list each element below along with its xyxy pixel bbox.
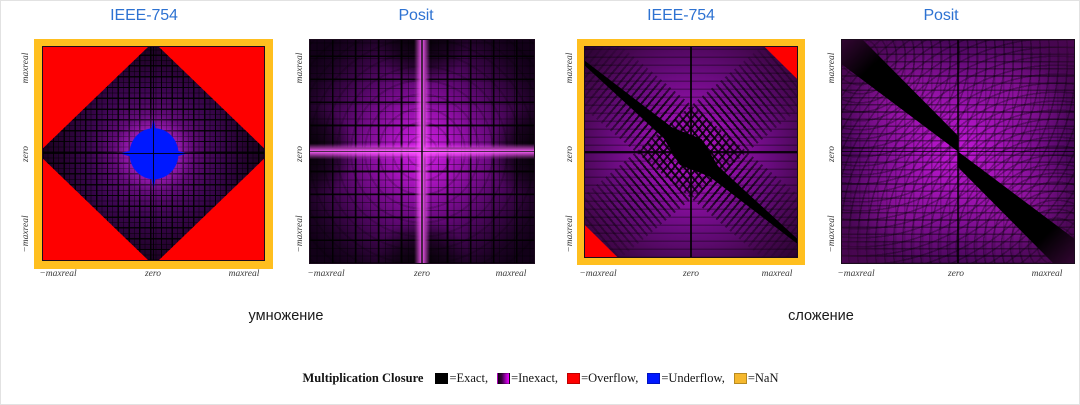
overflow-swatch-icon: [567, 373, 580, 384]
panel-posit-multiplication: Posit maxreal zero −maxreal −maxreal zer…: [287, 1, 545, 286]
x-tick-zero: zero: [387, 269, 457, 279]
legend-label-underflow: =Underflow,: [661, 371, 726, 386]
x-tick-maxreal: maxreal: [206, 269, 282, 279]
legend-title: Multiplication Closure: [302, 371, 423, 386]
legend-item-overflow: =Overflow,: [567, 371, 639, 386]
panel-title-posit-multiplication: Posit: [287, 7, 545, 25]
x-tick-neg-maxreal: −maxreal: [555, 269, 641, 279]
y-tick-neg-maxreal: −maxreal: [827, 209, 837, 259]
y-tick-maxreal: maxreal: [295, 45, 305, 91]
x-tick-zero: zero: [118, 269, 188, 279]
legend-label-exact: =Exact,: [449, 371, 489, 386]
panel-title-ieee754-addition: IEEE-754: [545, 7, 817, 25]
underflow-swatch-icon: [647, 373, 660, 384]
legend-label-overflow: =Overflow,: [581, 371, 639, 386]
panel-title-posit-addition: Posit: [809, 7, 1073, 25]
horizontal-axis-line: [841, 151, 1075, 152]
y-tick-maxreal: maxreal: [827, 45, 837, 91]
panel-posit-addition: Posit maxreal zero −maxreal −maxreal zer…: [817, 1, 1080, 286]
legend-item-exact: =Exact,: [435, 371, 489, 386]
legend-label-nan: =NaN: [748, 371, 780, 386]
exact-swatch-icon: [435, 373, 448, 384]
legend-item-inexact: =Inexact,: [497, 371, 559, 386]
plot-ieee754-multiplication[interactable]: [42, 46, 265, 261]
legend-item-nan: =NaN: [734, 371, 780, 386]
legend-label-inexact: =Inexact,: [511, 371, 559, 386]
y-tick-zero: zero: [827, 140, 837, 168]
x-tick-maxreal: maxreal: [739, 269, 815, 279]
caption-addition: сложение: [721, 308, 921, 324]
x-tick-neg-maxreal: −maxreal: [283, 269, 369, 279]
inexact-swatch-icon: [497, 373, 510, 384]
y-tick-neg-maxreal: −maxreal: [565, 209, 575, 259]
x-tick-zero: zero: [921, 269, 991, 279]
x-tick-neg-maxreal: −maxreal: [813, 269, 899, 279]
plot-posit-addition[interactable]: [841, 39, 1075, 264]
caption-multiplication: умножение: [186, 308, 386, 324]
x-tick-maxreal: maxreal: [473, 269, 549, 279]
plot-ieee754-addition[interactable]: [584, 46, 798, 258]
horizontal-axis-line: [309, 151, 535, 152]
y-tick-maxreal: maxreal: [21, 45, 31, 91]
y-tick-maxreal: maxreal: [565, 45, 575, 91]
panel-ieee754-addition: IEEE-754 maxreal zero −maxreal −maxreal …: [545, 1, 817, 286]
y-tick-zero: zero: [21, 140, 31, 168]
plot-posit-multiplication[interactable]: [309, 39, 535, 264]
figure-root: IEEE-754 maxreal zero −maxreal −maxreal …: [0, 0, 1080, 405]
x-tick-maxreal: maxreal: [1009, 269, 1080, 279]
panel-title-ieee754-multiplication: IEEE-754: [1, 7, 287, 25]
nan-swatch-icon: [734, 373, 747, 384]
y-tick-neg-maxreal: −maxreal: [21, 209, 31, 259]
y-tick-zero: zero: [565, 140, 575, 168]
panel-ieee754-multiplication: IEEE-754 maxreal zero −maxreal −maxreal …: [1, 1, 287, 286]
x-tick-zero: zero: [656, 269, 726, 279]
x-tick-neg-maxreal: −maxreal: [15, 269, 101, 279]
y-tick-zero: zero: [295, 140, 305, 168]
legend: Multiplication Closure =Exact, =Inexact,…: [1, 371, 1080, 386]
y-tick-neg-maxreal: −maxreal: [295, 209, 305, 259]
horizontal-axis-line: [42, 153, 265, 155]
legend-item-underflow: =Underflow,: [647, 371, 726, 386]
horizontal-axis-line: [584, 151, 798, 152]
